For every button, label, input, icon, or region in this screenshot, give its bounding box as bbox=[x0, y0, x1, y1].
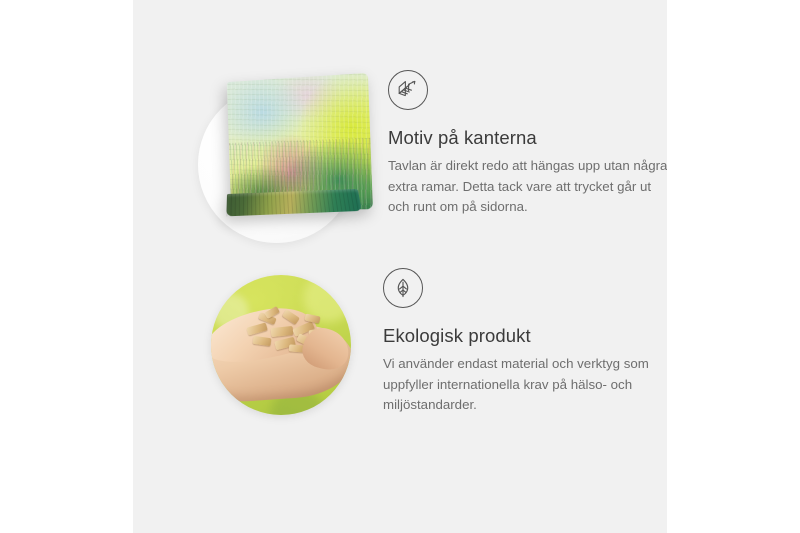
green-circle-photo bbox=[211, 275, 351, 415]
wood-chip bbox=[253, 336, 272, 346]
wood-chip bbox=[271, 326, 294, 337]
screenshot-stage: Motiv på kanterna Tavlan är direkt redo … bbox=[0, 0, 800, 533]
leaf-icon bbox=[383, 268, 423, 308]
canvas-print-photo bbox=[191, 78, 366, 253]
canvas-side-edge bbox=[226, 189, 362, 217]
wood-chip bbox=[282, 309, 300, 325]
feature-description: Tavlan är direkt redo att hängas upp uta… bbox=[388, 156, 667, 218]
feature-copy: Motiv på kanterna Tavlan är direkt redo … bbox=[388, 70, 667, 218]
feature-copy: Ekologisk produkt Vi använder endast mat… bbox=[383, 268, 667, 416]
wood-chip bbox=[246, 322, 267, 335]
feature-block-ekologisk-produkt: Ekologisk produkt Vi använder endast mat… bbox=[143, 268, 667, 425]
feature-panel: Motiv på kanterna Tavlan är direkt redo … bbox=[133, 0, 667, 533]
hands-with-wood-chips-photo bbox=[211, 275, 361, 425]
canvas-print-object bbox=[221, 82, 363, 232]
feature-description: Vi använder endast material och verktyg … bbox=[383, 354, 667, 416]
feature-title: Ekologisk produkt bbox=[383, 324, 667, 347]
feature-block-motiv-pa-kanterna: Motiv på kanterna Tavlan är direkt redo … bbox=[133, 70, 667, 253]
canvas-wrapped-edge-icon bbox=[388, 70, 428, 110]
feature-title: Motiv på kanterna bbox=[388, 126, 667, 149]
